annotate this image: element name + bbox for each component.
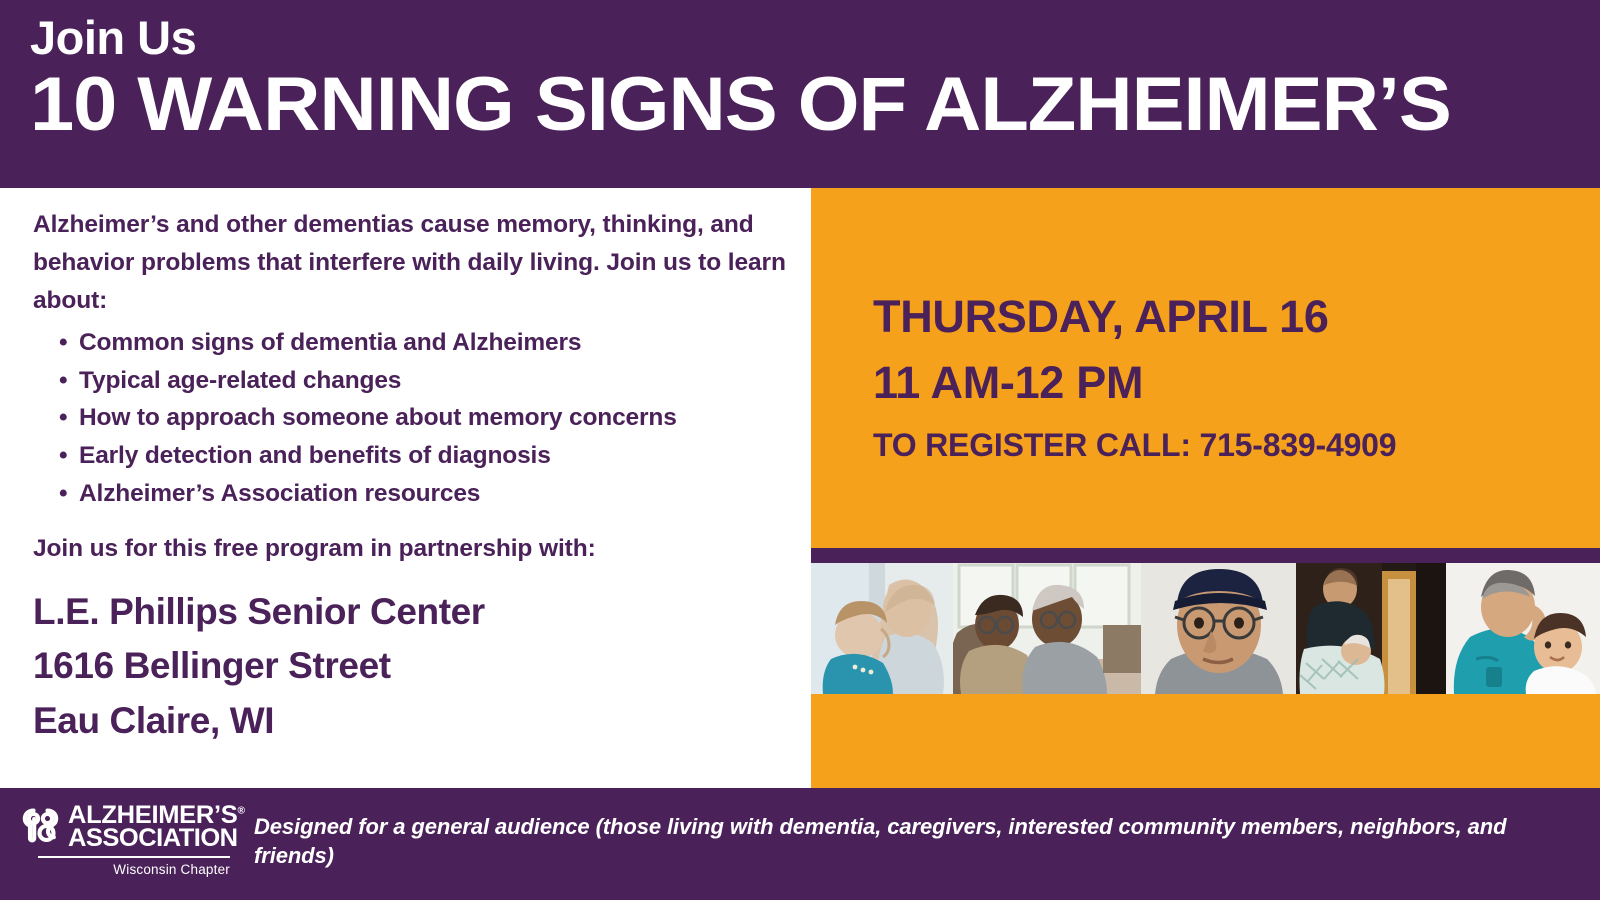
grandmother-and-child-photo (1446, 563, 1600, 694)
event-time: 11 AM-12 PM (873, 359, 1600, 406)
man-in-cap-portrait-photo (1141, 563, 1296, 694)
bullet-dot-icon: • (59, 437, 67, 475)
list-item: •Alzheimer’s Association resources (33, 475, 791, 513)
left-content-panel: Alzheimer’s and other dementias cause me… (0, 188, 811, 788)
venue-address-block: L.E. Phillips Senior Center 1616 Belling… (33, 585, 791, 748)
list-item: •Typical age-related changes (33, 362, 791, 400)
list-item-label: Typical age-related changes (79, 367, 401, 394)
page-title: 10 WARNING SIGNS OF ALZHEIMER’S (30, 67, 1600, 143)
bullet-dot-icon: • (59, 399, 67, 437)
event-date: THURSDAY, APRIL 16 (873, 293, 1600, 340)
learn-about-list: •Common signs of dementia and Alzheimers… (33, 324, 791, 513)
partnership-line: Join us for this free program in partner… (33, 535, 791, 563)
list-item-label: Alzheimer’s Association resources (79, 480, 480, 507)
photo-strip (811, 563, 1600, 694)
caregiver-with-resting-woman-photo (1296, 563, 1446, 694)
photo-strip-divider (811, 548, 1600, 563)
header-banner: Join Us 10 WARNING SIGNS OF ALZHEIMER’S (0, 0, 1600, 188)
logo-line-two: ASSOCIATION (68, 827, 245, 850)
venue-name: L.E. Phillips Senior Center (33, 585, 791, 639)
register-phone-line[interactable]: TO REGISTER CALL: 715-839-4909 (873, 427, 1600, 464)
bullet-dot-icon: • (59, 324, 67, 362)
registered-trademark-icon: ® (237, 806, 244, 817)
list-item-label: Early detection and benefits of diagnosi… (79, 442, 551, 469)
logo-chapter-label: Wisconsin Chapter (38, 862, 230, 877)
audience-note: Designed for a general audience (those l… (230, 788, 1600, 871)
intro-paragraph: Alzheimer’s and other dementias cause me… (33, 206, 791, 321)
bullet-dot-icon: • (59, 475, 67, 513)
bullet-dot-icon: • (59, 362, 67, 400)
alzheimers-association-logo: ALZHEIMER’S® ASSOCIATION Wisconsin Chapt… (0, 788, 230, 877)
list-item: •Early detection and benefits of diagnos… (33, 437, 791, 475)
event-info-block: THURSDAY, APRIL 16 11 AM-12 PM TO REGIST… (811, 188, 1600, 464)
venue-city-state: Eau Claire, WI (33, 694, 791, 748)
list-item-label: Common signs of dementia and Alzheimers (79, 329, 581, 356)
logo-divider (38, 856, 230, 858)
header-eyebrow: Join Us (30, 14, 1574, 63)
list-item-label: How to approach someone about memory con… (79, 404, 677, 431)
alzheimers-association-mark-icon (22, 807, 60, 848)
event-details-panel: THURSDAY, APRIL 16 11 AM-12 PM TO REGIST… (811, 188, 1600, 788)
venue-street: 1616 Bellinger Street (33, 639, 791, 693)
two-older-women-talking-photo (953, 563, 1141, 694)
list-item: •How to approach someone about memory co… (33, 399, 791, 437)
footer-bar: ALZHEIMER’S® ASSOCIATION Wisconsin Chapt… (0, 788, 1600, 900)
older-couple-embracing-photo (811, 563, 953, 694)
flyer-root: Join Us 10 WARNING SIGNS OF ALZHEIMER’S … (0, 0, 1600, 900)
list-item: •Common signs of dementia and Alzheimers (33, 324, 791, 362)
